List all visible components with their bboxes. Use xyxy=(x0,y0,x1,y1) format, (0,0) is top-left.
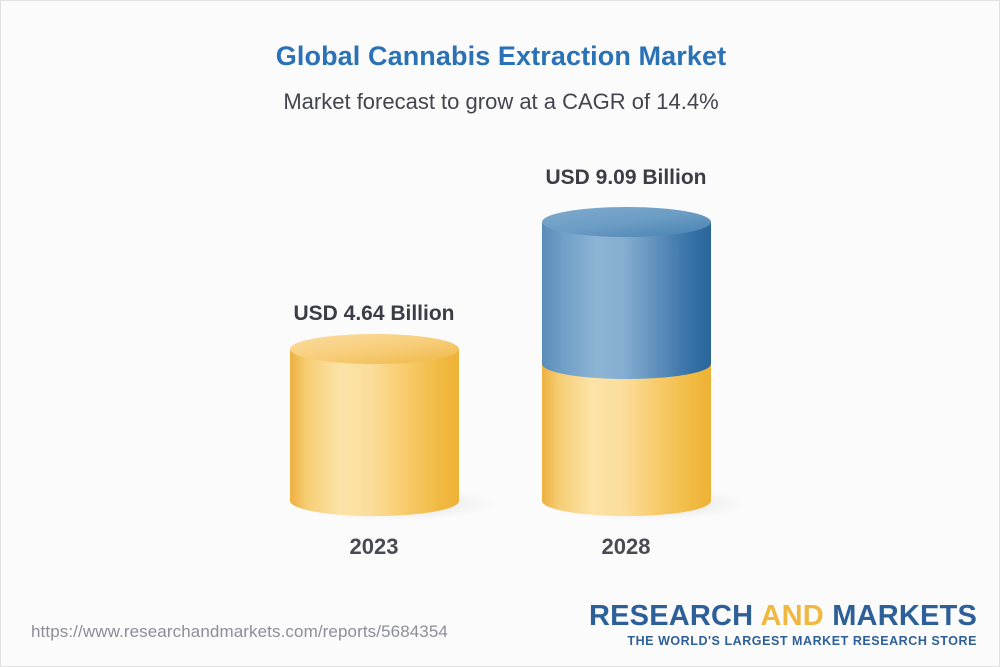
bar-2023-top xyxy=(290,334,459,364)
category-label-2023: 2023 xyxy=(244,534,504,560)
value-label-2023: USD 4.64 Billion xyxy=(244,302,504,326)
bar-2028 xyxy=(541,207,749,521)
plot-area: USD 4.64 Billion USD 9.09 Billion 2023 2… xyxy=(1,1,1000,601)
bar-2028-base-segment xyxy=(542,364,711,516)
logo-and-text: AND xyxy=(761,600,833,632)
chart-canvas: Global Cannabis Extraction Market Market… xyxy=(0,0,1000,667)
bar-2028-body xyxy=(542,222,711,379)
logo-markets-text: MARKETS xyxy=(832,600,977,632)
logo-research-text: RESEARCH xyxy=(589,600,761,632)
bar-chart-svg xyxy=(1,1,1000,601)
logo-tagline: THE WORLD'S LARGEST MARKET RESEARCH STOR… xyxy=(589,634,977,648)
bar-2028-top xyxy=(542,207,711,237)
bar-2023 xyxy=(289,334,497,521)
bar-2023-body xyxy=(290,349,459,516)
logo-wordmark: RESEARCH AND MARKETS xyxy=(589,601,977,631)
value-label-2028: USD 9.09 Billion xyxy=(496,166,756,190)
research-and-markets-logo[interactable]: RESEARCH AND MARKETS THE WORLD'S LARGEST… xyxy=(589,601,977,648)
category-label-2028: 2028 xyxy=(496,534,756,560)
source-url[interactable]: https://www.researchandmarkets.com/repor… xyxy=(31,622,448,642)
